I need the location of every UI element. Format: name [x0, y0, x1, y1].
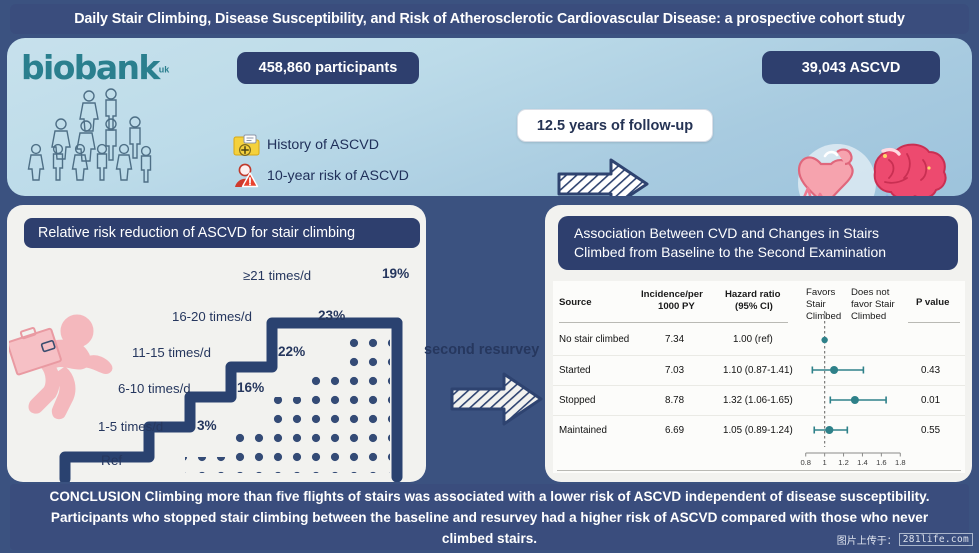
- heart-brain-icon: [779, 138, 959, 196]
- table-header-row: Source Incidence/per 1000 PY Hazard rati…: [553, 281, 965, 325]
- cell-pvalue: 0.01: [921, 386, 940, 416]
- svg-text:1.4: 1.4: [857, 458, 868, 467]
- criteria-label-history: History of ASCVD: [267, 137, 379, 153]
- cell-pvalue: 0.55: [921, 416, 940, 446]
- forest-panel-title-line2: Climbed from Baseline to the Second Exam…: [574, 243, 958, 262]
- watermark-prefix: 图片上传于：: [837, 532, 897, 547]
- col-header-notfavors-l3: Climbed: [851, 311, 886, 323]
- conclusion-banner: CONCLUSION Climbing more than five fligh…: [10, 484, 969, 550]
- table-row[interactable]: Stopped 8.78 1.32 (1.06-1.65) 0.01: [553, 385, 965, 415]
- svg-text:1: 1: [823, 458, 827, 467]
- watermark: 图片上传于： 281life.com: [837, 532, 973, 547]
- col-header-notfavors-l1: Does not: [851, 287, 889, 299]
- running-person-briefcase-icon: [9, 305, 137, 423]
- page-title-bar: Daily Stair Climbing, Disease Susceptibi…: [10, 4, 969, 34]
- cell-source: Started: [559, 356, 591, 386]
- right-arrow-icon: [555, 156, 651, 196]
- page-title: Daily Stair Climbing, Disease Susceptibi…: [74, 11, 905, 27]
- forest-plot-panel: Association Between CVD and Changes in S…: [545, 205, 972, 482]
- col-header-notfavors-l2: favor Stair: [851, 299, 895, 311]
- table-bottom-rule: [557, 470, 961, 472]
- col-header-hr-l2: (95% CI): [735, 301, 773, 313]
- study-overview-panel: biobankuk 458,860 participants 39,043 AS…: [7, 38, 972, 196]
- person-warning-icon: [231, 162, 263, 190]
- criteria-item-genetic: Genetic risk score of CAD/IS: [231, 192, 541, 196]
- criteria-list: History of ASCVD 10-year risk of ASCVD: [231, 130, 541, 196]
- stair-climbing-panel: Relative risk reduction of ASCVD for sta…: [7, 205, 426, 482]
- cell-hazard-ratio: 1.00 (ref): [733, 325, 773, 355]
- stair-label-ref: Ref: [101, 453, 122, 468]
- col-header-incidence-l2: 1000 PY: [658, 301, 695, 313]
- right-arrow-icon-resurvey: [448, 370, 544, 428]
- folder-plus-icon: [231, 131, 263, 159]
- cell-hazard-ratio: 1.10 (0.87-1.41): [723, 356, 793, 386]
- col-header-favors-l2: Stair: [806, 299, 826, 311]
- cell-source: Maintained: [559, 416, 607, 446]
- table-row[interactable]: Started 7.03 1.10 (0.87-1.41) 0.43: [553, 355, 965, 385]
- stair-percent-16-20: 23%: [318, 308, 345, 323]
- cell-hazard-ratio: 1.05 (0.89-1.24): [723, 416, 793, 446]
- col-header-favors-l1: Favors: [806, 287, 835, 299]
- svg-text:1.8: 1.8: [895, 458, 906, 467]
- cell-incidence: 6.69: [665, 416, 684, 446]
- criteria-label-risk: 10-year risk of ASCVD: [267, 168, 409, 184]
- criteria-item-history: History of ASCVD: [231, 130, 541, 160]
- table-row[interactable]: Maintained 6.69 1.05 (0.89-1.24) 0.55: [553, 415, 965, 445]
- second-resurvey-label: second resurvey: [424, 342, 539, 358]
- ascvd-count-pill: 39,043 ASCVD: [762, 51, 940, 84]
- cell-incidence: 8.78: [665, 386, 684, 416]
- stair-percent-6-10: 16%: [237, 380, 264, 395]
- stair-label-1-5: 1-5 times/d: [98, 419, 163, 434]
- stair-percent-1-5: 3%: [197, 418, 217, 433]
- dna-icon: [231, 193, 263, 196]
- header-rule-right: [908, 322, 960, 323]
- cell-incidence: 7.34: [665, 325, 684, 355]
- stair-label-6-10: 6-10 times/d: [118, 381, 191, 396]
- biobank-logo-superscript: uk: [159, 65, 170, 75]
- svg-text:1.2: 1.2: [838, 458, 849, 467]
- conclusion-text: CONCLUSION Climbing more than five fligh…: [28, 486, 951, 549]
- col-header-hr-l1: Hazard ratio: [725, 289, 780, 301]
- forest-panel-header: Association Between CVD and Changes in S…: [558, 216, 958, 270]
- stair-label-21plus: ≥21 times/d: [243, 268, 311, 283]
- cell-source: No stair climbed: [559, 325, 629, 355]
- cell-incidence: 7.03: [665, 356, 684, 386]
- forest-plot-table: Source Incidence/per 1000 PY Hazard rati…: [553, 281, 965, 473]
- biobank-logo: biobankuk: [21, 48, 196, 92]
- participants-pill: 458,860 participants: [237, 52, 419, 84]
- watermark-domain: 281life.com: [899, 533, 973, 546]
- cell-hazard-ratio: 1.32 (1.06-1.65): [723, 386, 793, 416]
- people-group-icon: [21, 88, 191, 183]
- col-header-incidence-l1: Incidence/per: [641, 289, 703, 301]
- col-header-favors-l3: Climbed: [806, 311, 841, 323]
- biobank-logo-text: biobank: [21, 48, 159, 87]
- stair-label-16-20: 16-20 times/d: [172, 309, 252, 324]
- stair-label-11-15: 11-15 times/d: [132, 345, 211, 360]
- col-header-source: Source: [559, 297, 592, 309]
- header-rule-left: [559, 322, 788, 323]
- table-row[interactable]: No stair climbed 7.34 1.00 (ref): [553, 325, 965, 355]
- stair-percent-21plus: 19%: [382, 266, 409, 281]
- col-header-pvalue: P value: [916, 297, 949, 309]
- followup-duration-pill: 12.5 years of follow-up: [517, 109, 713, 142]
- stair-percent-11-15: 22%: [278, 344, 305, 359]
- cell-pvalue: 0.43: [921, 356, 940, 386]
- cell-source: Stopped: [559, 386, 596, 416]
- svg-text:1.6: 1.6: [876, 458, 887, 467]
- forest-panel-title-line1: Association Between CVD and Changes in S…: [574, 224, 958, 243]
- svg-text:0.8: 0.8: [800, 458, 811, 467]
- criteria-item-risk: 10-year risk of ASCVD: [231, 161, 541, 191]
